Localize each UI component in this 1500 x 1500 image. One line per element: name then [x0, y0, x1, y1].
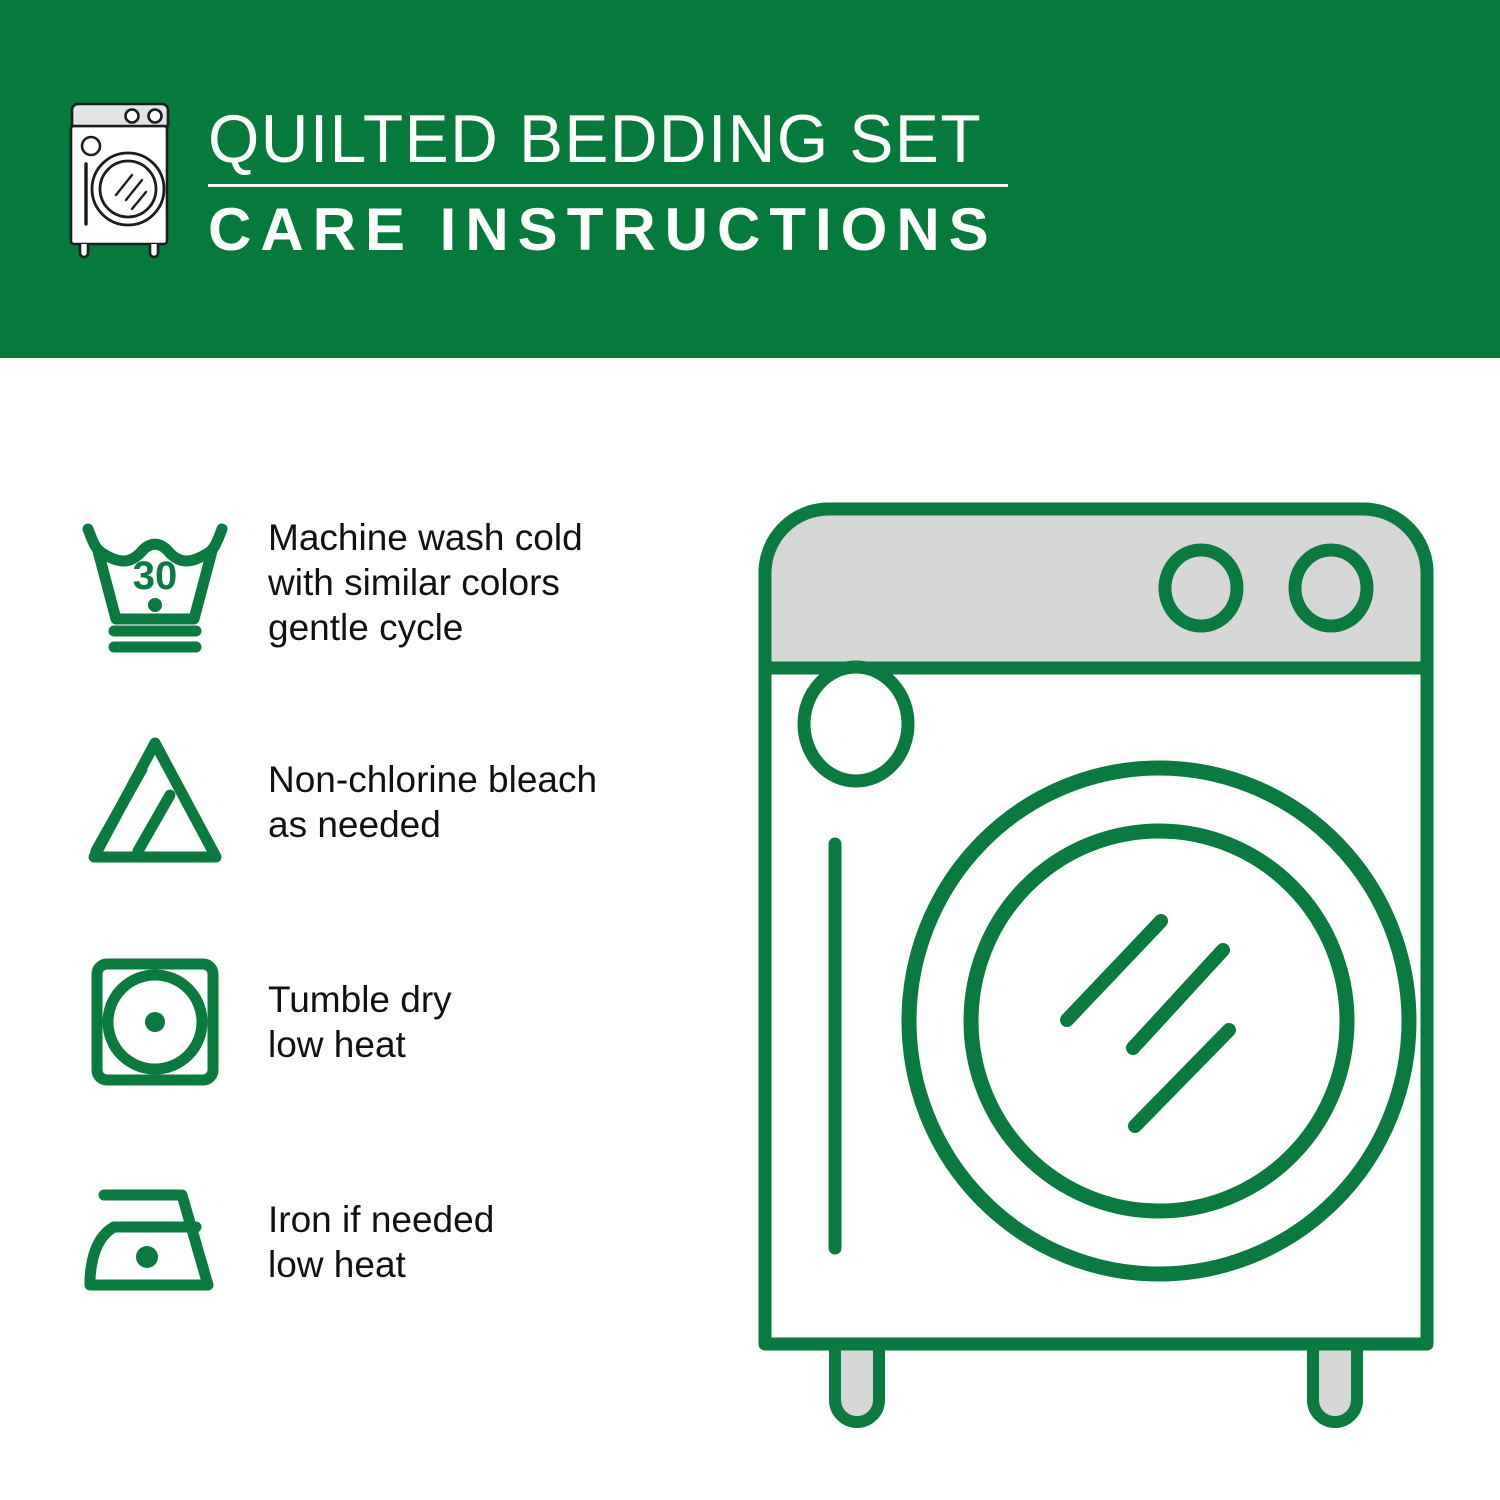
care-row-tumble-dry: Tumble dry low heat: [70, 938, 710, 1106]
care-label-bleach: Non-chlorine bleach as needed: [268, 757, 597, 847]
care-label-machine-wash: Machine wash cold with similar colors ge…: [268, 515, 583, 650]
knob-left: [1165, 550, 1237, 626]
page-header: QUILTED BEDDING SET CARE INSTRUCTIONS: [0, 0, 1500, 358]
care-row-bleach: Non-chlorine bleach as needed: [70, 718, 710, 886]
care-row-iron: Iron if needed low heat: [70, 1158, 710, 1326]
tumble-dry-low-heat-icon: [70, 947, 240, 1097]
page-subtitle: CARE INSTRUCTIONS: [208, 197, 1008, 263]
detergent-dial: [804, 667, 908, 781]
header-title-block: QUILTED BEDDING SET CARE INSTRUCTIONS: [208, 96, 1008, 263]
care-label-iron: Iron if needed low heat: [268, 1197, 494, 1287]
machine-legs: [835, 1338, 1357, 1422]
page-content: 30 Machine wash cold with similar colors…: [0, 358, 1500, 1500]
care-row-machine-wash: 30 Machine wash cold with similar colors…: [70, 498, 710, 666]
front-load-washing-machine-illustration: [735, 478, 1455, 1438]
care-label-tumble-dry: Tumble dry low heat: [268, 977, 452, 1067]
wash-tub-30-gentle-icon: 30: [70, 507, 240, 657]
iron-low-heat-icon: [70, 1167, 240, 1317]
title-divider: [208, 184, 1008, 187]
care-instruction-list: 30 Machine wash cold with similar colors…: [70, 498, 710, 1326]
page-title: QUILTED BEDDING SET: [208, 100, 984, 178]
header-content: QUILTED BEDDING SET CARE INSTRUCTIONS: [60, 96, 1008, 263]
knob-right: [1295, 550, 1367, 626]
non-chlorine-bleach-triangle-icon: [70, 727, 240, 877]
washing-machine-icon: [60, 96, 186, 261]
wash-temperature-value: 30: [133, 554, 178, 598]
